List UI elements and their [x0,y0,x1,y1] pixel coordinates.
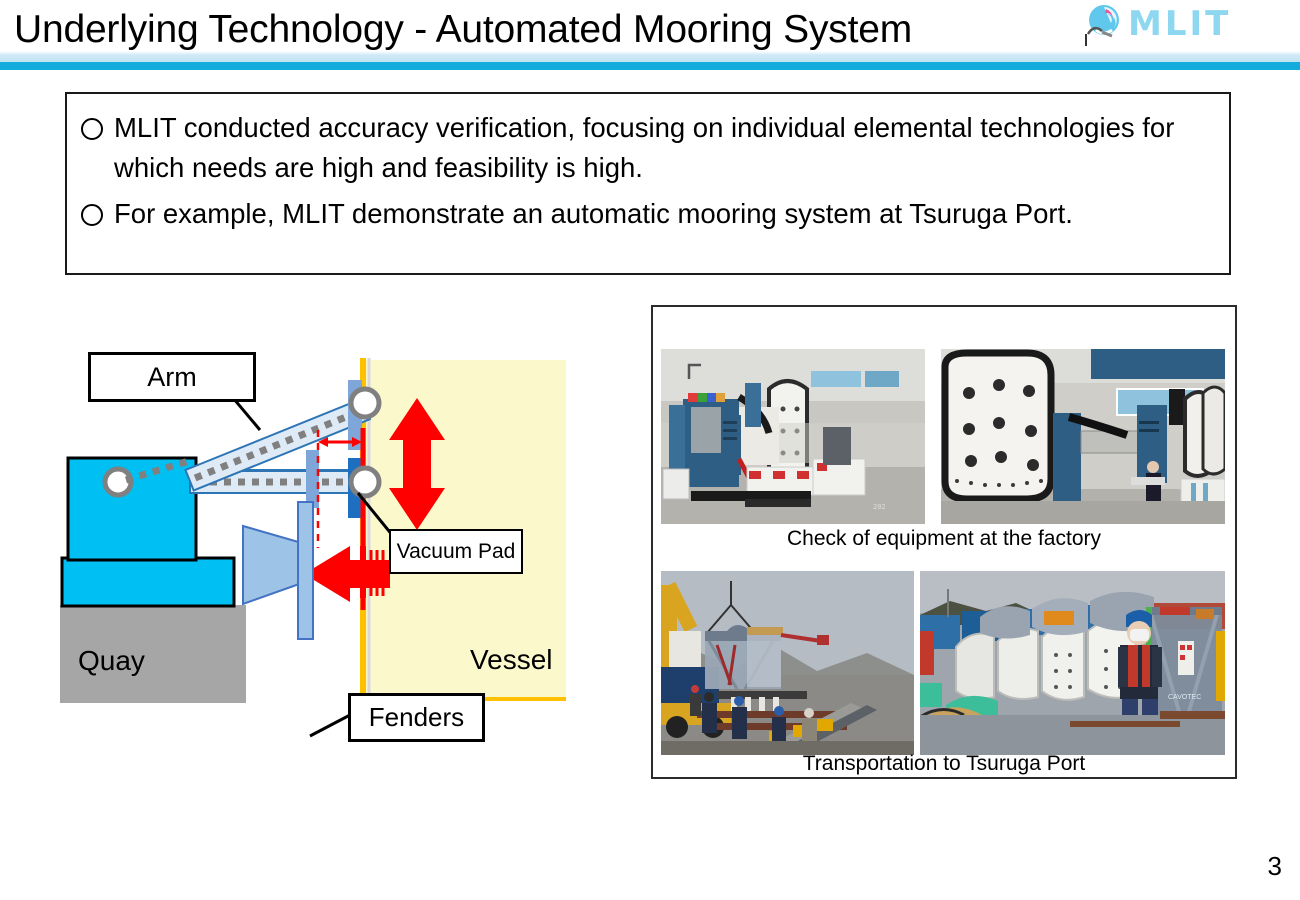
fender [243,502,313,639]
photo-panel: 202 [651,305,1237,779]
arm-pivot-lower [351,468,379,496]
label-quay: Quay [78,645,145,677]
header-rule [0,62,1300,70]
arm-pivot-upper [351,389,379,417]
slide-header: Underlying Technology - Automated Moorin… [0,0,1300,70]
bullet-circle-icon [81,118,103,140]
page-number: 3 [1268,851,1282,882]
photo-factory-equipment-open: 202 [661,349,925,524]
mooring-system-diagram: Arm Vacuum Pad Fenders Quay Vessel [60,340,600,760]
bullet-circle-icon [81,204,103,226]
fenders-leader-line [310,715,350,736]
mlit-logo: MLIT [1082,0,1300,52]
caption-top: Check of equipment at the factory [653,527,1235,551]
label-fenders: Fenders [348,693,485,742]
machine-body [68,458,196,560]
photo-factory-vacuum-pad [941,349,1225,524]
label-vessel: Vessel [470,644,553,676]
caption-bottom: Transportation to Tsuruga Port [653,752,1235,776]
summary-text-box: MLIT conducted accuracy verification, fo… [65,92,1231,275]
label-vacuum-pad: Vacuum Pad [389,529,523,574]
bullet-item: MLIT conducted accuracy verification, fo… [81,108,1221,188]
bullet-text: For example, MLIT demonstrate an automat… [114,194,1073,234]
bullet-text: MLIT conducted accuracy verification, fo… [114,108,1221,188]
horizontal-force-arrow [304,546,390,602]
mlit-wordmark: MLIT [1128,4,1231,44]
photo-crane-lifting-unit [661,571,914,755]
bullet-item: For example, MLIT demonstrate an automat… [81,194,1221,234]
label-arm: Arm [88,352,256,402]
mlit-swirl-icon [1082,2,1126,46]
svg-text:CAVOTEC: CAVOTEC [1168,694,1201,701]
page-title: Underlying Technology - Automated Moorin… [14,2,912,58]
svg-text:202: 202 [873,503,886,511]
machine-base [62,558,234,606]
photo-units-on-quay: CAVOTEC [920,571,1225,755]
